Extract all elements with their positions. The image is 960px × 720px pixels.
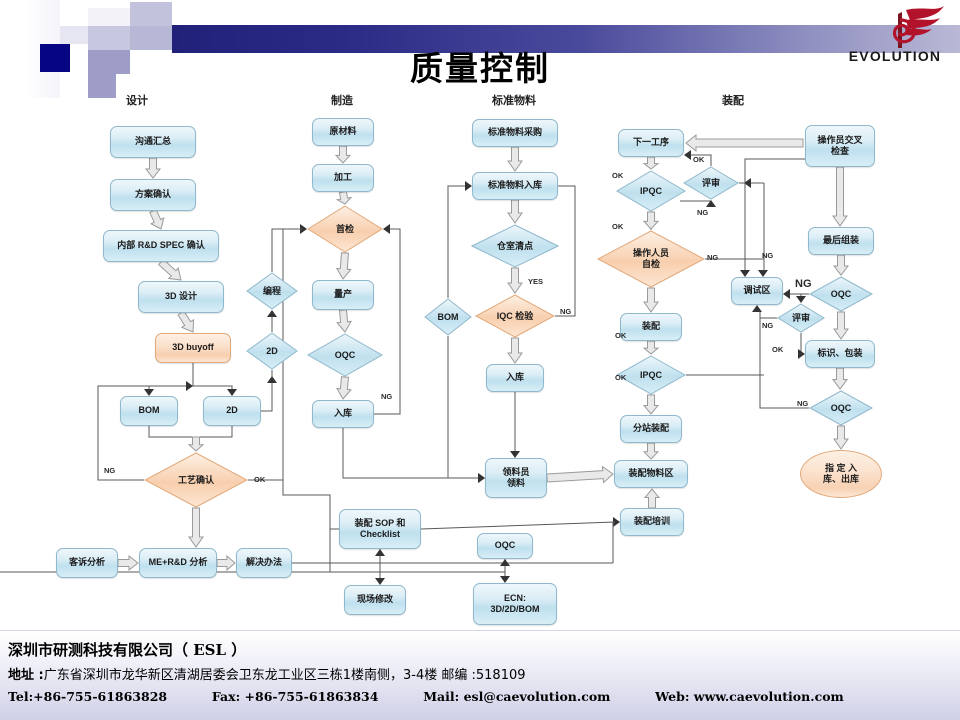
flow-node-label: 指 定 入库、出库 [823,463,859,486]
block-arrow [834,426,848,449]
block-arrow [644,288,658,312]
block-arrow [336,191,352,205]
flow-node-box: 量产 [312,280,374,310]
connector-line [448,186,467,298]
flow-node-box: 内部 R&D SPEC 确认 [103,230,219,262]
connector-arrowhead [383,224,390,234]
block-arrow [147,208,168,232]
flow-node-label: 内部 R&D SPEC 确认 [117,240,205,251]
edge-label-ok: OK [615,373,626,382]
flow-node-label: IQC 检验 [475,294,555,338]
flow-node-label: IPQC [616,355,686,395]
block-arrow [645,489,659,508]
block-arrow [644,395,658,414]
flow-node-box: ECN:3D/2D/BOM [473,583,557,625]
block-arrow [686,135,803,151]
connector-line [196,426,232,437]
connector-arrowhead [510,451,520,458]
flow-node-box: BOM [120,396,178,426]
flow-node-label: 解决办法 [246,557,282,568]
block-arrow [833,167,847,226]
block-arrow [189,437,203,451]
flow-node-label: 入库 [506,372,524,383]
connector-line [193,386,232,390]
block-arrow [508,338,522,363]
flow-node-label: 调试区 [743,285,770,296]
flow-node-box: 下一工序 [618,129,684,157]
edge-label-ok: OK [772,345,783,354]
footer-web[interactable]: Web: www.caevolution.com [655,689,844,704]
flow-node-diamond: IQC 检验 [475,294,555,338]
connector-arrowhead [375,578,385,585]
connector-arrowhead [783,289,790,299]
flow-node-label: BOM [139,405,160,416]
flow-node-label: 首检 [307,205,383,253]
flow-node-label: 原材料 [329,126,356,137]
flow-node-box: 装配物料区 [614,460,688,488]
flow-node-label: 评审 [777,303,825,333]
block-arrow [217,556,235,570]
flow-node-diamond: OQC [809,390,873,426]
flow-node-label: 下一工序 [633,137,669,148]
flow-node-label: 量产 [334,289,352,300]
footer-company: 深圳市研测科技有限公司（ ESL ） [8,639,246,660]
flow-node-box: 最后组装 [808,227,874,255]
flow-node-diamond: BOM [424,298,472,336]
edge-label-ok: OK [693,155,704,164]
flow-node-diamond: 仓室清点 [471,224,559,268]
flow-node-label: 标识、包装 [817,348,862,359]
connector-arrowhead [227,389,237,396]
block-arrow [146,158,160,178]
flow-node-box: 装配培训 [620,508,684,536]
connector-arrowhead [758,270,768,277]
block-arrow [547,466,614,486]
flow-node-label: 2D [226,405,238,416]
footer-fax: Fax: +86-755-61863834 [212,689,379,704]
edge-label-ok: OK [612,222,623,231]
block-arrow [118,556,138,570]
flow-node-label: ME+R&D 分析 [149,557,208,568]
edge-label-ok: OK [254,475,265,484]
flow-node-box: 操作员交叉检查 [805,125,875,167]
connector-arrowhead [375,549,385,556]
flow-node-label: 操作员交叉检查 [817,135,862,158]
flow-node-label: 工艺确认 [144,452,248,508]
flow-node-box: 分站装配 [620,415,682,443]
block-arrow [644,341,658,354]
connector-line [613,522,615,563]
connector-line [283,480,339,529]
flow-node-diamond: IPQC [616,170,686,212]
block-arrow [644,157,658,169]
block-arrow [644,443,658,459]
flow-node-box: 方案确认 [110,179,196,211]
connector-arrowhead [478,473,485,483]
flow-node-diamond: IPQC [616,355,686,395]
flow-node-diamond: 编程 [246,272,298,310]
flow-node-box: 装配 SOP 和Checklist [339,509,421,549]
flow-node-ellipse: 指 定 入库、出库 [800,450,882,498]
connector-arrowhead [796,296,806,303]
edge-label-ok: OK [612,171,623,180]
flow-node-box: 标识、包装 [805,340,875,368]
footer-tel: Tel:+86-755-61863828 [8,689,167,704]
flow-node-label: 装配培训 [634,516,670,527]
flow-node-label: 加工 [334,172,352,183]
connector-arrowhead [740,270,750,277]
flow-node-label: 标准物料采购 [488,127,542,138]
flow-node-diamond: OQC [307,333,383,377]
flow-node-box: 解决办法 [236,548,292,578]
footer-bar: 深圳市研测科技有限公司（ ESL ） 地址 :广东省深圳市龙华新区清湖居委会卫东… [0,630,960,720]
connector-arrowhead [267,310,277,317]
flow-node-box: 调试区 [731,277,783,305]
flow-node-label: 3D 设计 [165,291,197,302]
flow-node-label: 现场修改 [357,594,393,605]
edge-label-ng: NG [762,321,773,330]
flow-node-label: 3D buyoff [172,342,214,353]
connector-arrowhead [465,181,472,191]
connector-arrowhead [186,381,193,391]
flow-node-diamond: 操作人员自检 [597,230,705,288]
footer-address-label: 地址 : [8,668,44,683]
edge-label-ng: NG [381,392,392,401]
connector-line [149,426,196,437]
connector-arrowhead [684,150,691,160]
flow-node-diamond: 首检 [307,205,383,253]
block-arrow [644,212,658,229]
flow-node-box: 3D buyoff [155,333,231,363]
edge-label-yes: YES [528,277,543,286]
flow-node-box: 标准物料入库 [472,172,558,200]
flow-node-box: ME+R&D 分析 [139,548,217,578]
flow-node-diamond: 评审 [777,303,825,333]
flow-node-label: BOM [424,298,472,336]
edge-label-ng: NG [795,278,812,290]
connector-arrowhead [144,389,154,396]
flow-node-label: OQC [307,333,383,377]
flow-node-diamond: 2D [246,332,298,370]
connector-line [374,229,400,414]
flow-node-box: 领料员领料 [485,458,547,498]
connector-line [272,229,302,272]
block-arrow [336,252,352,279]
flow-node-box: 加工 [312,164,374,192]
flow-node-label: OQC [495,540,516,551]
block-arrow [189,508,203,547]
footer-contact-line: Tel:+86-755-61863828 Fax: +86-755-618638… [8,689,844,704]
block-arrow [175,309,199,335]
flow-node-box: 入库 [486,364,544,392]
footer-mail[interactable]: Mail: esl@caevolution.com [423,689,610,704]
flow-node-box: 2D [203,396,261,426]
slide-canvas: EVOLUTION 质量控制 设计 制造 标准物料 装配 沟通汇总方案确认内部 … [0,0,960,720]
block-arrow [834,312,848,339]
block-arrow [336,309,352,332]
flow-node-box: 现场修改 [344,585,406,615]
flow-node-label: 操作人员自检 [597,230,705,288]
block-arrow [336,146,350,163]
block-arrow [834,255,848,275]
flow-node-label: 客诉分析 [69,557,105,568]
connector-line [421,522,615,529]
flow-node-label: 分站装配 [633,423,669,434]
flow-node-label: 方案确认 [135,189,171,200]
edge-label-ng: NG [560,307,571,316]
flow-node-diamond: 工艺确认 [144,452,248,508]
flow-node-box: 标准物料采购 [472,119,558,147]
flow-node-label: 编程 [246,272,298,310]
connector-arrowhead [500,576,510,583]
connector-arrowhead [752,305,762,312]
connector-arrowhead [267,376,277,383]
flow-node-label: ECN:3D/2D/BOM [490,593,539,616]
flow-node-label: 沟通汇总 [135,136,171,147]
edge-label-ng: NG [707,253,718,262]
edge-label-ng: NG [104,466,115,475]
block-arrow [833,368,847,389]
flow-node-box: 3D 设计 [138,281,224,313]
footer-address-line: 地址 :广东省深圳市龙华新区清湖居委会卫东龙工业区三栋1楼南侧，3-4楼 邮编 … [8,664,526,683]
block-arrow [508,200,522,223]
flow-node-diamond: 评审 [683,166,739,200]
flow-node-box: 原材料 [312,118,374,146]
flow-node-label: 仓室清点 [471,224,559,268]
flow-node-label: 评审 [683,166,739,200]
flow-node-label: 装配物料区 [628,468,673,479]
footer-address: 广东省深圳市龙华新区清湖居委会卫东龙工业区三栋1楼南侧，3-4楼 邮编 :518… [44,668,526,683]
flow-node-box: 入库 [312,400,374,428]
flow-node-box: 客诉分析 [56,548,118,578]
flow-node-label: 入库 [334,408,352,419]
flow-node-label: 装配 SOP 和Checklist [355,518,406,541]
flow-node-label: IPQC [616,170,686,212]
flow-node-label: 标准物料入库 [488,180,542,191]
flow-node-box: OQC [477,533,533,559]
connector-line [448,336,480,478]
flow-node-label: 装配 [642,321,660,332]
flow-node-label: 领料员领料 [502,467,529,490]
edge-label-ng: NG [797,399,808,408]
flow-node-box: 装配 [620,313,682,341]
connector-line [261,370,272,411]
flow-node-label: 最后组装 [823,235,859,246]
flow-node-box: 沟通汇总 [110,126,196,158]
edge-label-ng: NG [762,251,773,260]
flow-node-label: 2D [246,332,298,370]
block-arrow [336,376,352,399]
block-arrow [508,268,522,293]
connector-line [745,159,805,271]
block-arrow [508,147,522,171]
connector-line [343,428,480,478]
edge-label-ng: NG [697,208,708,217]
flow-node-label: OQC [809,390,873,426]
edge-label-ok: OK [615,331,626,340]
